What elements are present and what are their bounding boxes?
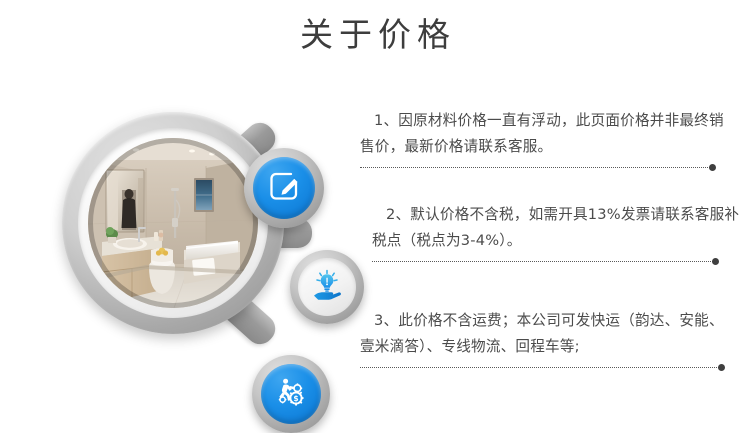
node-idea[interactable] <box>290 250 364 324</box>
running-person-gears-icon: $ <box>274 375 308 413</box>
note-item-2-text: 2、默认价格不含税，如需开具13%发票请联系客服补税点（税点为3-4%）。 <box>372 202 742 254</box>
note-item-3: 3、此价格不含运费；本公司可发快运（韵达、安能、壹米滴答）、专线物流、回程车等; <box>360 308 730 372</box>
leader-line <box>360 167 714 168</box>
note-item-3-leader <box>360 363 730 372</box>
hand-lightbulb-idea-icon <box>310 268 344 306</box>
note-item-1-text: 1、因原材料价格一直有浮动，此页面价格并非最终销售价，最新价格请联系客服。 <box>360 108 730 160</box>
note-item-1: 1、因原材料价格一直有浮动，此页面价格并非最终销售价，最新价格请联系客服。 <box>360 108 730 172</box>
infographic-cluster: $ <box>0 60 360 422</box>
edit-pencil-icon <box>267 169 301 207</box>
note-item-2: 2、默认价格不含税，如需开具13%发票请联系客服补税点（税点为3-4%）。 <box>372 202 742 266</box>
svg-text:$: $ <box>293 394 298 403</box>
node-edit-face <box>253 157 315 219</box>
leader-dot <box>712 258 719 265</box>
note-item-3-text: 3、此价格不含运费；本公司可发快运（韵达、安能、壹米滴答）、专线物流、回程车等; <box>360 308 730 360</box>
leader-dot <box>709 164 716 171</box>
node-idea-face <box>298 258 356 316</box>
leader-line <box>360 367 723 368</box>
slide-root: 关于价格 <box>0 0 750 422</box>
leader-dot <box>718 364 725 371</box>
note-item-1-leader <box>360 163 730 172</box>
center-ring-inner <box>78 128 268 318</box>
leader-line <box>372 261 717 262</box>
center-ring <box>62 112 284 334</box>
notes-list: 1、因原材料价格一直有浮动，此页面价格并非最终销售价，最新价格请联系客服。 2、… <box>360 0 750 422</box>
node-logistics[interactable]: $ <box>252 355 330 433</box>
bathroom-interior-photo <box>88 138 258 308</box>
node-logistics-face: $ <box>261 364 321 424</box>
node-edit[interactable] <box>244 148 324 228</box>
note-item-2-leader <box>372 257 742 266</box>
